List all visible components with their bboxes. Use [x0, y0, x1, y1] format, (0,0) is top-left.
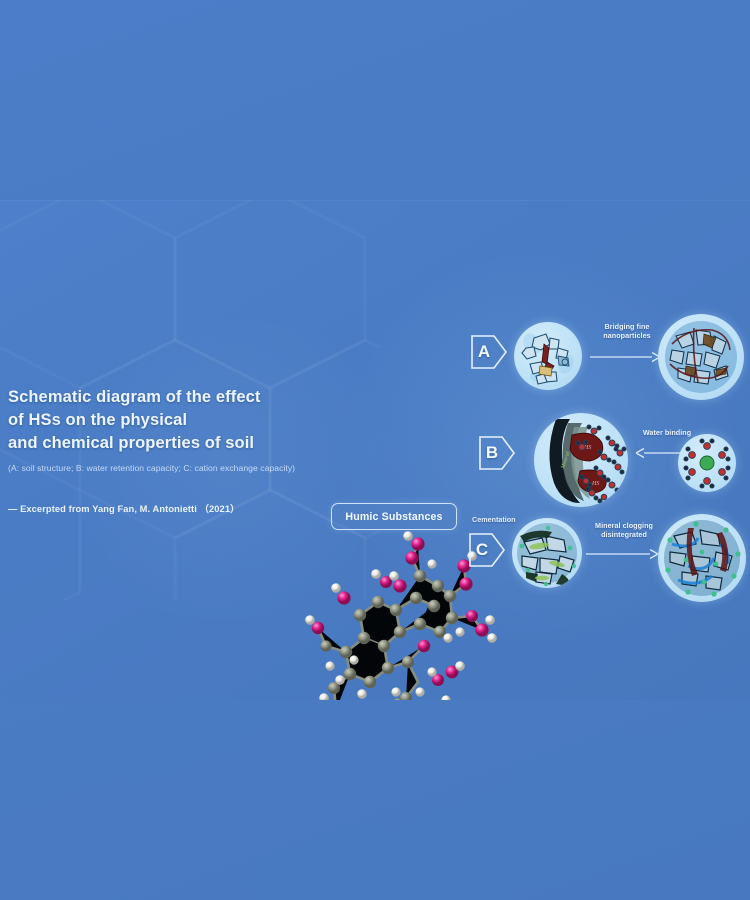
page-subtitle: (A: soil structure; B: water retention c…: [8, 462, 348, 474]
arrow-c-label: Mineral clogging disintegrated: [582, 521, 666, 539]
callout-badge-b-letter: B: [478, 433, 506, 473]
callout-badge-c-letter-wrap: C: [468, 530, 506, 570]
disintegrated-aggregate-circle: [658, 514, 746, 602]
arrow-a-right: [590, 348, 660, 366]
callout-badge-a-letter: A: [470, 332, 498, 372]
cemented-aggregate-circle: [512, 518, 582, 588]
page-title-line-2: of HSs on the physical: [8, 409, 348, 432]
soil-structure-before-circle: [514, 322, 582, 390]
soil-structure-after-circle: [658, 314, 744, 400]
hydrated-cation-circle: [678, 434, 736, 492]
page-title-line-3: and chemical properties of soil: [8, 432, 348, 455]
attribution-text: — Excerpted from Yang Fan, M. Antonietti…: [8, 501, 348, 515]
slide-inner-band: Schematic diagram of the effect of HSs o…: [0, 200, 750, 700]
page-title: Schematic diagram of the effect of HSs o…: [8, 386, 348, 455]
slide-canvas: Schematic diagram of the effect of HSs o…: [0, 0, 750, 900]
text-block: Schematic diagram of the effect of HSs o…: [8, 386, 348, 515]
water-retention-circle: HS HS Mineral: [534, 413, 628, 507]
callout-badge-c-letter: C: [468, 530, 496, 570]
callout-badge-a-letter-wrap: A: [470, 332, 508, 372]
arrow-c-right: [586, 545, 658, 563]
arrow-a-label: Bridging fine nanoparticles: [586, 322, 668, 340]
cementation-label: Cementation: [472, 515, 516, 524]
callout-badge-b-letter-wrap: B: [478, 433, 516, 473]
page-title-line-1: Schematic diagram of the effect: [8, 386, 348, 409]
